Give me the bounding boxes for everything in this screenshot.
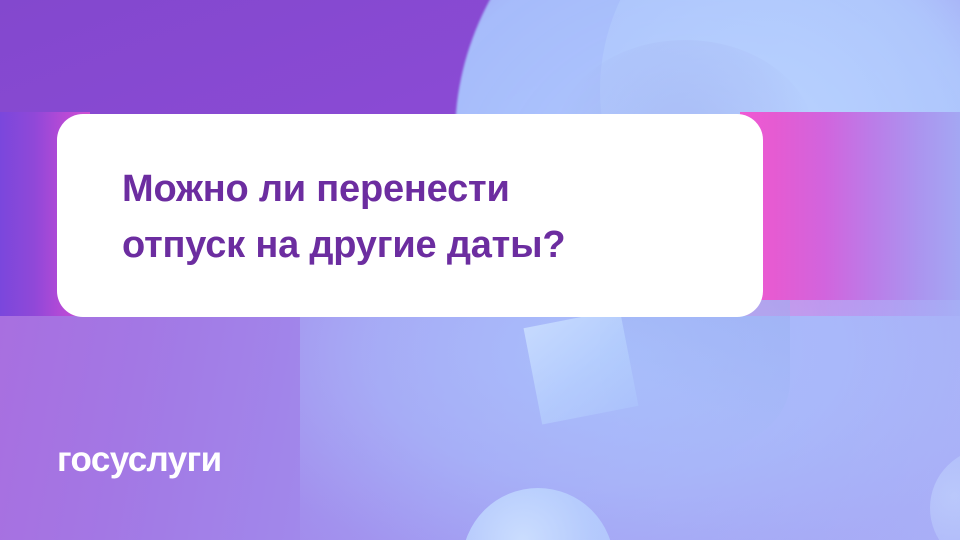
page-title: Можно ли перенести отпуск на другие даты… bbox=[122, 161, 712, 273]
gosuslugi-logo: госуслуги bbox=[57, 440, 222, 480]
question-card: Можно ли перенести отпуск на другие даты… bbox=[57, 114, 763, 317]
decor-square-icon bbox=[524, 310, 639, 425]
slide-canvas: Можно ли перенести отпуск на другие даты… bbox=[0, 0, 960, 540]
decor-pink-band-right bbox=[740, 112, 960, 318]
